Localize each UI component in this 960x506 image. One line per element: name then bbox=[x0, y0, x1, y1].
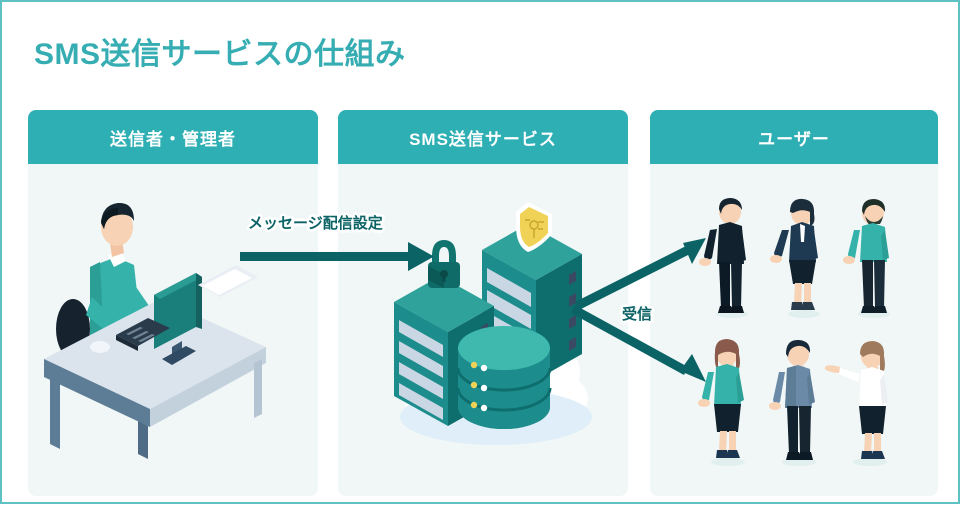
column-body-users bbox=[650, 164, 938, 496]
database-icon bbox=[458, 326, 550, 429]
column-header-sender: 送信者・管理者 bbox=[28, 110, 318, 164]
column-header-label: ユーザー bbox=[758, 125, 830, 150]
column-header-users: ユーザー bbox=[650, 110, 938, 164]
person-figure bbox=[770, 199, 820, 318]
column-header-label: SMS送信サービス bbox=[409, 125, 557, 150]
column-users: ユーザー bbox=[650, 110, 938, 496]
servers-database-illustration bbox=[386, 202, 601, 472]
person-figure bbox=[825, 341, 888, 466]
infographic-page: SMS送信サービスの仕組み 送信者・管理者 bbox=[0, 0, 960, 504]
column-header-sms-service: SMS送信サービス bbox=[338, 110, 628, 164]
arrow-label-delivery: メッセージ配信設定 bbox=[248, 212, 383, 233]
users-top-row-illustration bbox=[698, 196, 908, 321]
arrow-label-receive: 受信 bbox=[622, 303, 652, 324]
person-figure bbox=[698, 339, 745, 466]
person-figure bbox=[769, 340, 816, 466]
users-bottom-row-illustration bbox=[692, 336, 907, 471]
person-figure bbox=[843, 199, 890, 318]
column-sms-service: SMS送信サービス bbox=[338, 110, 628, 496]
column-header-label: 送信者・管理者 bbox=[110, 125, 236, 150]
person-figure bbox=[699, 198, 748, 318]
page-title: SMS送信サービスの仕組み bbox=[34, 29, 406, 73]
column-sender: 送信者・管理者 bbox=[28, 110, 318, 496]
lock-icon bbox=[428, 240, 460, 288]
